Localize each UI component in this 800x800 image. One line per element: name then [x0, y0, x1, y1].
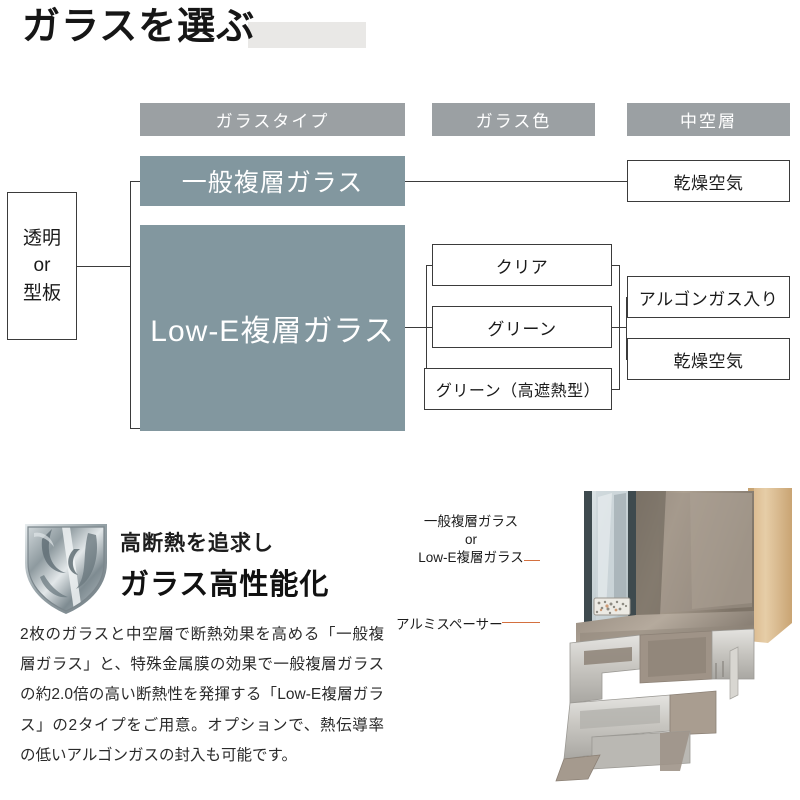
photo-callout-glass-line2: or — [396, 531, 546, 549]
column-header-glass-color: ガラス色 — [432, 103, 595, 136]
air-layer-argon-gas: アルゴンガス入り — [627, 276, 790, 318]
connector-standard-to-dry-air — [405, 181, 627, 182]
connector-lowe-stub — [405, 327, 427, 328]
source-line-figured: 型板 — [23, 280, 61, 308]
glass-color-green-high-shielding: グリーン（高遮熱型） — [424, 368, 612, 410]
feature-subtitle: 高断熱を追求し — [120, 527, 274, 557]
source-line-transparent: 透明 — [23, 225, 61, 253]
feature-title: ガラス高性能化 — [120, 561, 329, 603]
air-layer-dry-air-standard: 乾燥空気 — [627, 160, 790, 202]
column-header-air-layer: 中空層 — [627, 103, 790, 136]
glass-type-lowe: Low-E複層ガラス — [140, 225, 405, 431]
glass-type-standard: 一般複層ガラス — [140, 156, 405, 206]
connector-source-to-standard — [130, 181, 140, 182]
connector-source-spine — [130, 181, 131, 428]
glass-color-clear: クリア — [432, 244, 612, 286]
photo-callout-glass-line1: 一般複層ガラス — [396, 513, 546, 531]
photo-callout-glass-line3: Low-E複層ガラス — [396, 549, 546, 567]
source-line-or: or — [34, 252, 51, 280]
title-accent-strip — [248, 22, 366, 48]
glass-color-green: グリーン — [432, 306, 612, 348]
feature-body-text: 2枚のガラスと中空層で断熱効果を高める「一般複層ガラス」と、特殊金属膜の効果で一… — [20, 620, 384, 771]
source-box-glass-surface: 透明 or 型板 — [7, 192, 77, 340]
connector-green-shade-out — [612, 389, 620, 390]
column-header-glass-type: ガラスタイプ — [140, 103, 405, 136]
photo-callout-spacer: アルミスペーサー — [396, 616, 503, 634]
connector-source-to-lowe — [130, 428, 140, 429]
page-title: ガラスを選ぶ — [22, 6, 255, 50]
connector-source-stub — [77, 266, 130, 267]
shield-emblem-icon — [22, 519, 110, 615]
window-sash-cross-section-photo — [540, 483, 798, 788]
air-layer-dry-air-lowe: 乾燥空気 — [627, 338, 790, 380]
